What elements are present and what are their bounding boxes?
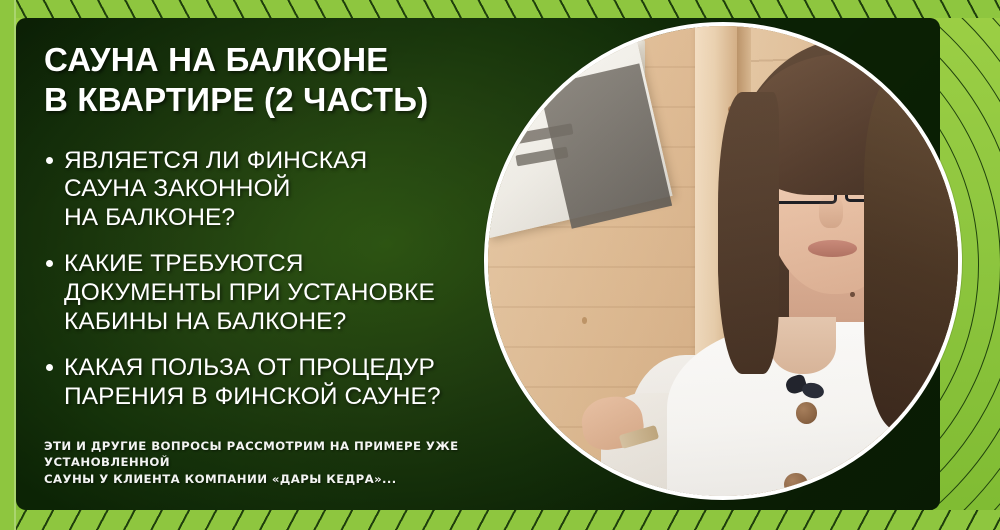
list-item: КАКИЕ ТРЕБУЮТСЯ ДОКУМЕНТЫ ПРИ УСТАНОВКЕ … — [44, 250, 514, 337]
page-title: САУНА НА БАЛКОНЕ В КВАРТИРЕ (2 ЧАСТЬ) — [44, 40, 514, 121]
sauna-promo-banner: САУНА НА БАЛКОНЕ В КВАРТИРЕ (2 ЧАСТЬ) ЯВ… — [0, 0, 1000, 530]
photo-color-tint — [488, 26, 958, 496]
bottom-stripe-border — [0, 510, 1000, 530]
question-list: ЯВЛЯЕТСЯ ЛИ ФИНСКАЯ САУНА ЗАКОННОЙ НА БА… — [44, 147, 514, 412]
top-stripe-border — [0, 0, 1000, 18]
text-column: САУНА НА БАЛКОНЕ В КВАРТИРЕ (2 ЧАСТЬ) ЯВ… — [44, 40, 514, 488]
footer-note: ЭТИ И ДРУГИЕ ВОПРОСЫ РАССМОТРИМ НА ПРИМЕ… — [44, 438, 523, 488]
list-item: КАКАЯ ПОЛЬЗА ОТ ПРОЦЕДУР ПАРЕНИЯ В ФИНСК… — [44, 354, 514, 412]
list-item: ЯВЛЯЕТСЯ ЛИ ФИНСКАЯ САУНА ЗАКОННОЙ НА БА… — [44, 147, 514, 234]
portrait-circle — [484, 22, 962, 500]
left-green-edge — [0, 0, 16, 530]
